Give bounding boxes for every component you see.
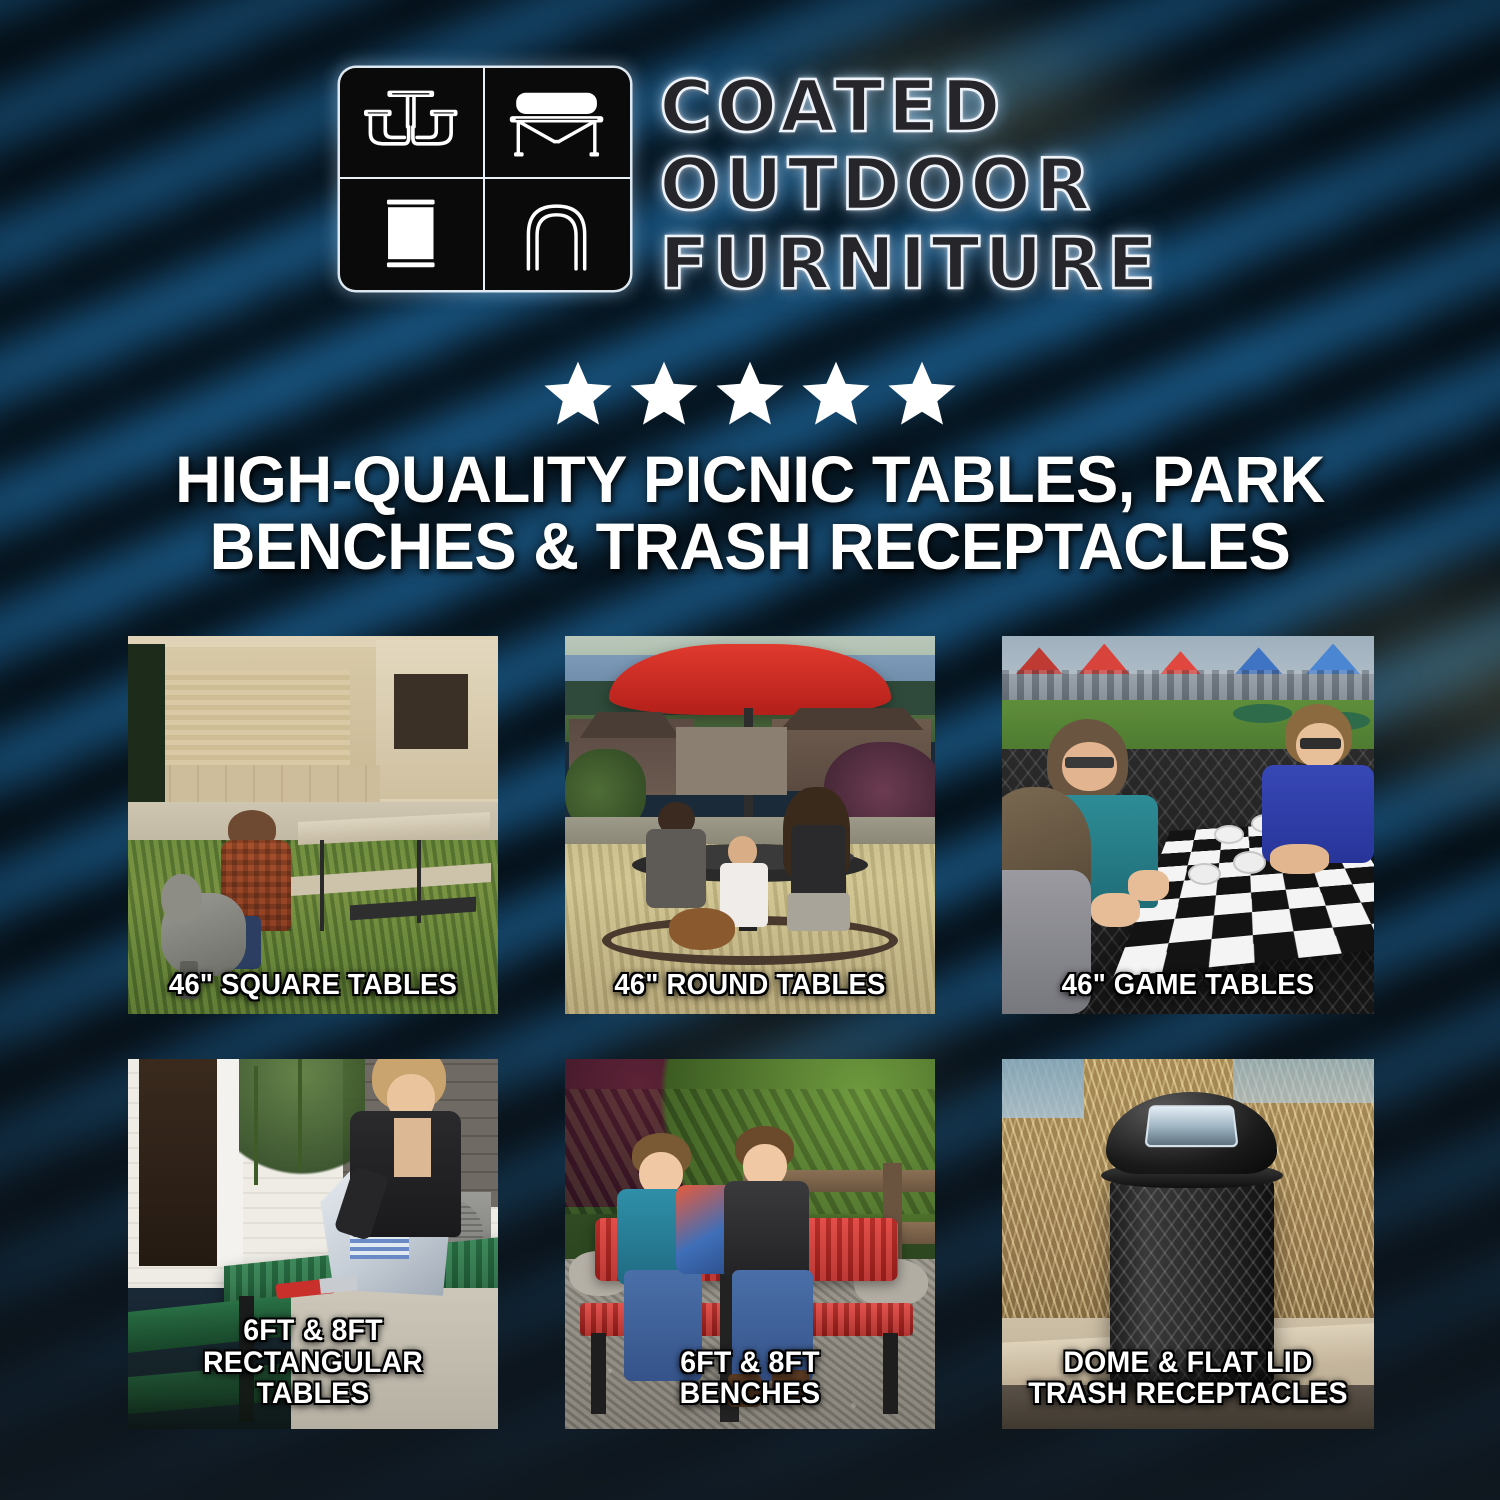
caption-line-1: DOME & FLAT LID: [1021, 1347, 1355, 1378]
trash-receptacle-icon: [340, 179, 485, 290]
caption-line-2: BENCHES: [584, 1378, 917, 1409]
caption-line-1: 46" GAME TABLES: [1021, 970, 1355, 1000]
star-icon-5: [885, 358, 959, 430]
gallery-tile-trash-receptacles[interactable]: DOME & FLAT LID TRASH RECEPTACLES: [1002, 1059, 1374, 1429]
gallery-tile-square-tables[interactable]: 46" SQUARE TABLES: [128, 636, 498, 1014]
caption-line-2: TRASH RECEPTACLES: [1021, 1378, 1355, 1409]
caption-line-1: 6FT & 8FT: [584, 1347, 917, 1378]
photo-game-tables: [1002, 636, 1374, 1014]
ad-banner: COATED OUTDOOR FURNITURE HIGH-QUALITY PI…: [0, 0, 1500, 1500]
caption-line-1: 46" ROUND TABLES: [584, 970, 917, 1000]
gallery-caption: 46" GAME TABLES: [1011, 970, 1364, 1014]
picnic-table-icon: [340, 68, 485, 179]
gallery-caption: 46" SQUARE TABLES: [137, 970, 489, 1014]
gallery-tile-rectangular-tables[interactable]: 6FT & 8FT RECTANGULAR TABLES: [128, 1059, 498, 1429]
bike-rack-icon: [485, 179, 630, 290]
logo-mark: [340, 68, 630, 290]
product-gallery: 46" SQUARE TABLES: [128, 636, 1374, 1429]
headline-line-2: BENCHES & TRASH RECEPTACLES: [30, 513, 1470, 580]
gallery-tile-round-tables[interactable]: 46" ROUND TABLES: [565, 636, 935, 1014]
brand-logo: COATED OUTDOOR FURNITURE: [0, 68, 1500, 299]
gallery-caption: 46" ROUND TABLES: [574, 970, 926, 1014]
caption-line-2: RECTANGULAR TABLES: [147, 1347, 480, 1409]
headline-line-1: HIGH-QUALITY PICNIC TABLES, PARK: [30, 446, 1470, 513]
caption-line-1: 6FT & 8FT: [147, 1315, 480, 1346]
gallery-tile-benches[interactable]: 6FT & 8FT BENCHES: [565, 1059, 935, 1429]
caption-line-1: 46" SQUARE TABLES: [147, 970, 480, 1000]
brand-word-coated: COATED: [660, 72, 1161, 142]
brand-word-outdoor: OUTDOOR: [660, 150, 1161, 220]
photo-round-tables: [565, 636, 935, 1014]
star-rating: [0, 358, 1500, 430]
star-icon-1: [541, 358, 615, 430]
gallery-caption: 6FT & 8FT BENCHES: [574, 1347, 926, 1423]
star-icon-2: [627, 358, 701, 430]
brand-wordmark: COATED OUTDOOR FURNITURE: [660, 68, 1161, 299]
bench-icon: [485, 68, 630, 179]
star-icon-3: [713, 358, 787, 430]
gallery-caption: 6FT & 8FT RECTANGULAR TABLES: [137, 1315, 489, 1423]
star-icon-4: [799, 358, 873, 430]
brand-word-furniture: FURNITURE: [660, 229, 1161, 299]
gallery-caption: DOME & FLAT LID TRASH RECEPTACLES: [1011, 1347, 1364, 1423]
gallery-tile-game-tables[interactable]: 46" GAME TABLES: [1002, 636, 1374, 1014]
photo-square-tables: [128, 636, 498, 1014]
headline: HIGH-QUALITY PICNIC TABLES, PARK BENCHES…: [30, 446, 1470, 581]
